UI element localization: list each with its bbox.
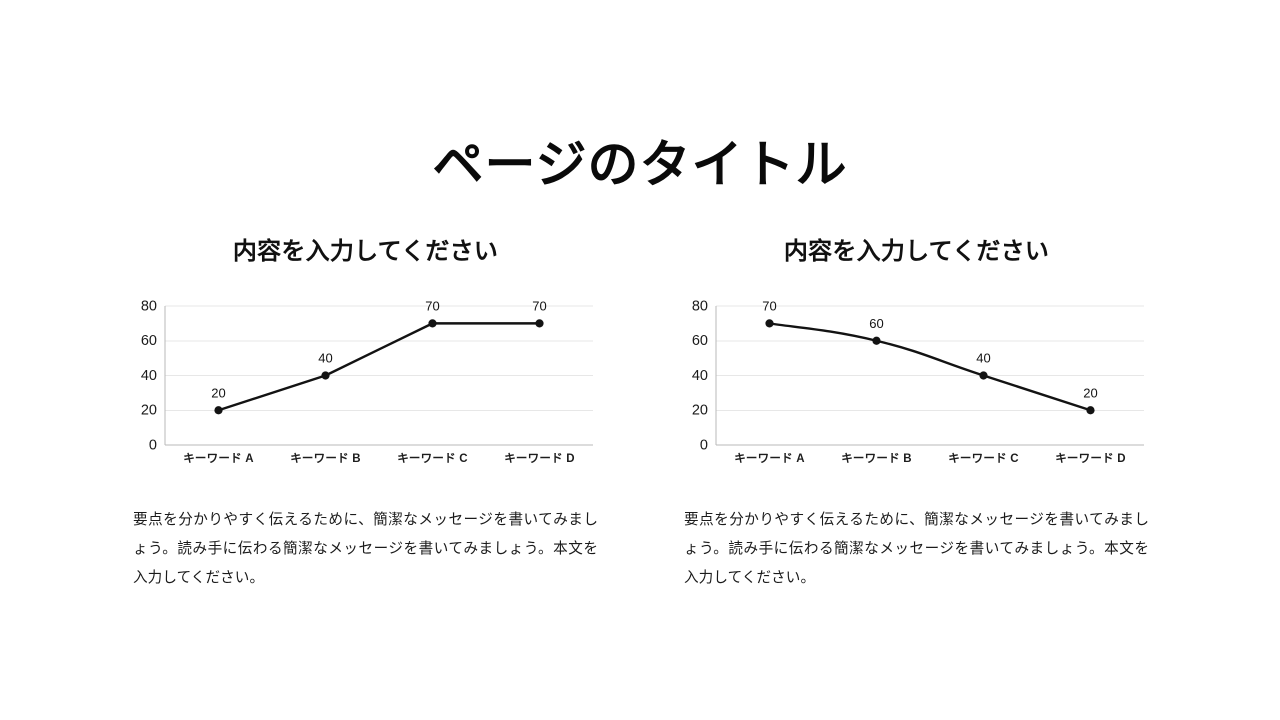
- data-point-marker[interactable]: [1086, 406, 1094, 414]
- data-point-label: 40: [318, 351, 332, 366]
- data-point-label: 60: [869, 316, 883, 331]
- x-axis-tick-label: キーワード C: [948, 452, 1019, 465]
- y-axis-tick-label: 0: [700, 437, 708, 453]
- data-point-marker[interactable]: [321, 371, 329, 379]
- column-subtitle-right: 内容を入力してください: [684, 238, 1149, 268]
- x-axis-tick-label: キーワード D: [504, 452, 575, 465]
- y-axis-tick-label: 60: [141, 333, 157, 349]
- data-point-label: 70: [762, 298, 776, 313]
- series-line: [219, 323, 540, 410]
- data-point-label: 70: [425, 298, 439, 313]
- data-point-marker[interactable]: [535, 319, 543, 327]
- content-column-left: 内容を入力してください 02040608020407070キーワード Aキーワー…: [133, 238, 598, 594]
- y-axis-tick-label: 80: [141, 298, 157, 314]
- line-chart-left-svg: 02040608020407070キーワード Aキーワード Bキーワード Cキー…: [133, 290, 598, 480]
- column-subtitle-left: 内容を入力してください: [133, 238, 598, 268]
- y-axis-tick-label: 20: [692, 403, 708, 419]
- line-chart-right-svg: 02040608070604020キーワード Aキーワード Bキーワード Cキー…: [684, 290, 1149, 480]
- y-axis-tick-label: 40: [141, 368, 157, 384]
- data-point-marker[interactable]: [979, 371, 987, 379]
- y-axis-tick-label: 0: [149, 437, 157, 453]
- series-line: [770, 323, 1091, 410]
- content-column-right: 内容を入力してください 02040608070604020キーワード Aキーワー…: [684, 238, 1149, 594]
- x-axis-tick-label: キーワード B: [290, 452, 361, 465]
- x-axis-tick-label: キーワード C: [397, 452, 468, 465]
- data-point-marker[interactable]: [214, 406, 222, 414]
- x-axis-tick-label: キーワード B: [841, 452, 912, 465]
- data-point-marker[interactable]: [428, 319, 436, 327]
- y-axis-tick-label: 40: [692, 368, 708, 384]
- data-point-marker[interactable]: [765, 319, 773, 327]
- y-axis-tick-label: 80: [692, 298, 708, 314]
- x-axis-tick-label: キーワード A: [734, 452, 805, 465]
- line-chart-left[interactable]: 02040608020407070キーワード Aキーワード Bキーワード Cキー…: [133, 290, 598, 480]
- data-point-label: 20: [211, 385, 225, 400]
- x-axis-tick-label: キーワード D: [1055, 452, 1126, 465]
- page-title: ページのタイトル: [0, 136, 1280, 193]
- line-chart-right[interactable]: 02040608070604020キーワード Aキーワード Bキーワード Cキー…: [684, 290, 1149, 480]
- column-body-right: 要点を分かりやすく伝えるために、簡潔なメッセージを書いてみましょう。読み手に伝わ…: [684, 506, 1149, 594]
- y-axis-tick-label: 60: [692, 333, 708, 349]
- x-axis-tick-label: キーワード A: [183, 452, 254, 465]
- slide-canvas: ページのタイトル 内容を入力してください 02040608020407070キー…: [0, 0, 1280, 720]
- y-axis-tick-label: 20: [141, 403, 157, 419]
- data-point-label: 40: [976, 351, 990, 366]
- column-body-left: 要点を分かりやすく伝えるために、簡潔なメッセージを書いてみましょう。読み手に伝わ…: [133, 506, 598, 594]
- data-point-marker[interactable]: [872, 337, 880, 345]
- data-point-label: 20: [1083, 385, 1097, 400]
- data-point-label: 70: [532, 298, 546, 313]
